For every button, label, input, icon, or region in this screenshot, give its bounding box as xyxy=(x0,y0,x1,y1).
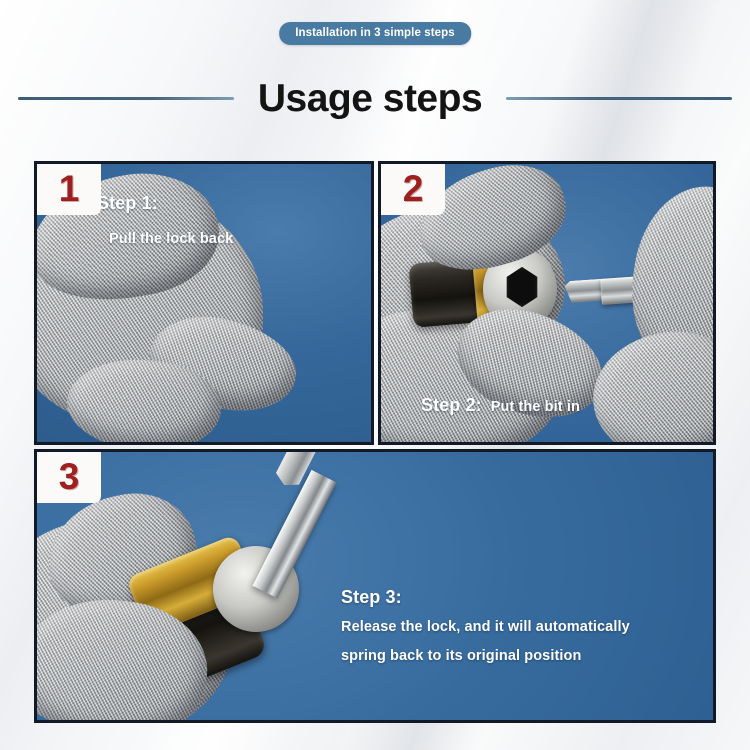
step-2-heading: Step 2: xyxy=(421,394,482,417)
step-3-caption: Step 3: Release the lock, and it will au… xyxy=(341,586,715,667)
step-number-chip-2: 2 xyxy=(381,164,445,215)
infographic-page: Installation in 3 simple steps Usage ste… xyxy=(0,0,750,750)
header: Installation in 3 simple steps Usage ste… xyxy=(0,0,750,161)
step-1-detail: Pull the lock back xyxy=(109,229,357,250)
step-panel-2: 2 Step 2: Put the bit in xyxy=(378,161,716,445)
steps-grid: 1 Step 1: Pull the lock back xyxy=(34,161,716,723)
step-2-caption: Step 2: Put the bit in xyxy=(421,394,580,418)
title-row: Usage steps xyxy=(0,72,750,124)
title-rule-left xyxy=(18,97,234,100)
step-3-detail-line-1: Release the lock, and it will automatica… xyxy=(341,617,715,638)
title-rule-right xyxy=(506,97,732,100)
step-1-caption: Step 1: Pull the lock back xyxy=(97,192,357,250)
step-number-1: 1 xyxy=(59,170,80,207)
page-title: Usage steps xyxy=(258,79,482,118)
step-panel-1: 1 Step 1: Pull the lock back xyxy=(34,161,374,445)
installation-pill-badge: Installation in 3 simple steps xyxy=(279,22,471,45)
step-number-chip-3: 3 xyxy=(37,452,101,503)
step-3-detail-line-2: spring back to its original position xyxy=(341,646,715,667)
step-number-2: 2 xyxy=(403,170,424,207)
step-panel-3: 3 Step 3: Release the lock, and it will … xyxy=(34,449,716,723)
step-2-detail: Put the bit in xyxy=(491,397,580,418)
step-3-heading: Step 3: xyxy=(341,586,715,609)
step-number-3: 3 xyxy=(59,458,80,495)
step-number-chip-1: 1 xyxy=(37,164,101,215)
step-1-heading: Step 1: xyxy=(97,192,357,215)
